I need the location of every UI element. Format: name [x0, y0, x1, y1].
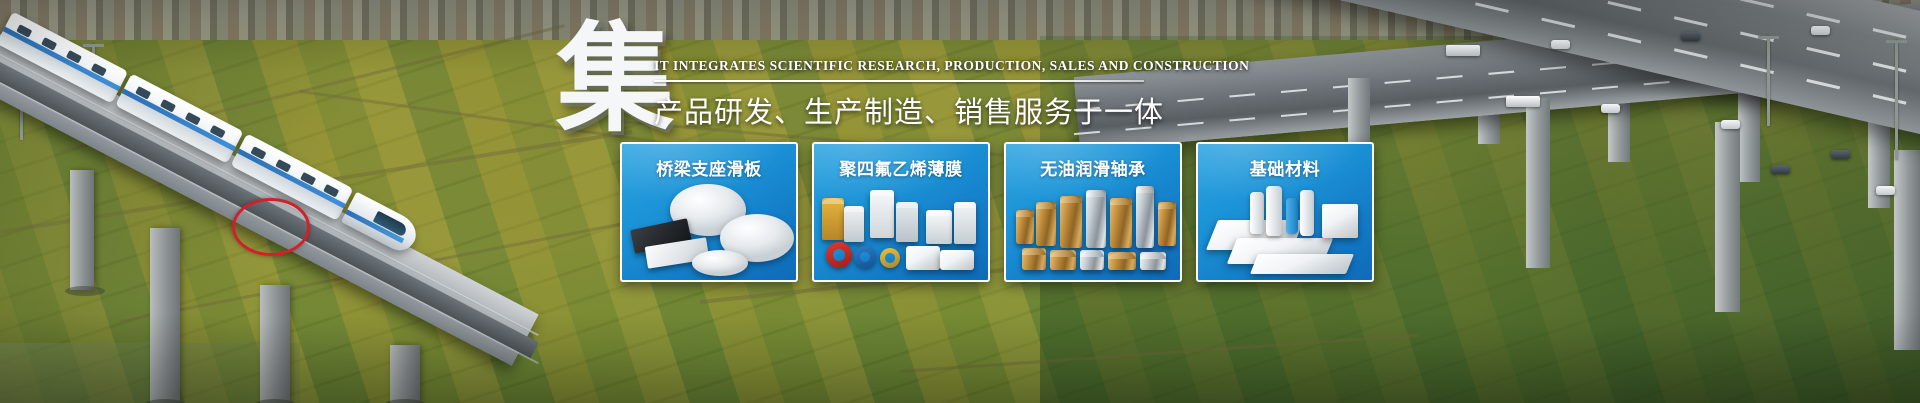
bronze-bushing: [1060, 196, 1082, 248]
headline-text-group: IT INTEGRATES SCIENTIFIC RESEARCH, PRODU…: [654, 58, 1174, 131]
material-rod: [1286, 198, 1298, 234]
product-card-artwork: [1198, 180, 1372, 280]
film-ring: [854, 246, 876, 268]
film-roll: [896, 202, 918, 242]
vehicle: [1831, 150, 1850, 159]
railway-viaduct: [0, 0, 600, 403]
product-card-title: 基础材料: [1198, 144, 1372, 180]
film-roll: [822, 198, 844, 240]
vehicle: [1446, 45, 1480, 56]
vehicle: [1721, 120, 1740, 129]
vehicle: [1771, 165, 1790, 174]
material-sheet: [1250, 254, 1354, 274]
highway-pier: [1894, 150, 1920, 350]
product-card-oilless-bearing[interactable]: 无油润滑轴承: [1004, 142, 1182, 282]
film-ring: [880, 248, 900, 268]
product-card-artwork: [1006, 180, 1180, 280]
product-card-title: 无油润滑轴承: [1006, 144, 1180, 180]
steel-bushing: [1136, 186, 1154, 248]
bronze-bushing: [1108, 252, 1136, 270]
hero-banner: 集 IT INTEGRATES SCIENTIFIC RESEARCH, PRO…: [0, 0, 1920, 403]
headline-divider: [654, 80, 1144, 82]
product-card-base-materials[interactable]: 基础材料: [1196, 142, 1374, 282]
product-card-title: 桥梁支座滑板: [622, 144, 796, 180]
utility-pole: [1767, 36, 1770, 126]
product-card-title: 聚四氟乙烯薄膜: [814, 144, 988, 180]
film-roll: [844, 206, 864, 242]
vehicle: [1876, 186, 1895, 195]
steel-bushing: [1080, 250, 1104, 270]
product-card-artwork: [814, 180, 988, 280]
film-roll: [870, 190, 894, 238]
bronze-bushing: [1022, 248, 1046, 270]
ptfe-disc: [692, 250, 748, 276]
material-block: [1322, 204, 1358, 238]
product-card-ptfe-film[interactable]: 聚四氟乙烯薄膜: [812, 142, 990, 282]
headline-english-tagline: IT INTEGRATES SCIENTIFIC RESEARCH, PRODU…: [654, 58, 1174, 74]
headline-block: 集 IT INTEGRATES SCIENTIFIC RESEARCH, PRO…: [556, 22, 1176, 134]
vehicle: [1681, 32, 1700, 41]
film-roll: [926, 210, 952, 244]
material-rod: [1266, 186, 1282, 236]
vehicle: [1506, 96, 1540, 107]
vehicle: [1811, 26, 1830, 35]
highway-pier: [1526, 98, 1550, 268]
film-sheet: [906, 246, 940, 270]
steel-bushing: [1086, 190, 1106, 248]
vehicle: [1601, 104, 1620, 113]
vehicle: [1551, 40, 1570, 49]
bronze-bushing: [1158, 202, 1176, 246]
bronze-bushing: [1110, 198, 1132, 248]
headline-chinese-tagline: 产品研发、生产制造、销售服务于一体: [654, 89, 1174, 131]
film-ring: [826, 242, 852, 268]
product-card-bridge-bearing-slide-plate[interactable]: 桥梁支座滑板: [620, 142, 798, 282]
bronze-bushing: [1016, 210, 1034, 244]
product-card-list: 桥梁支座滑板 聚四氟乙烯薄膜: [620, 142, 1374, 282]
film-sheet: [940, 250, 974, 270]
bronze-bushing: [1036, 202, 1056, 246]
bronze-bushing: [1050, 250, 1076, 270]
red-highlight-circle: [232, 198, 310, 256]
steel-bushing: [1140, 252, 1166, 270]
highway-pier: [1715, 122, 1740, 312]
product-card-artwork: [622, 180, 796, 280]
utility-pole: [1895, 40, 1898, 160]
material-rod: [1300, 190, 1314, 236]
material-rod: [1250, 192, 1264, 234]
film-roll: [954, 202, 976, 244]
